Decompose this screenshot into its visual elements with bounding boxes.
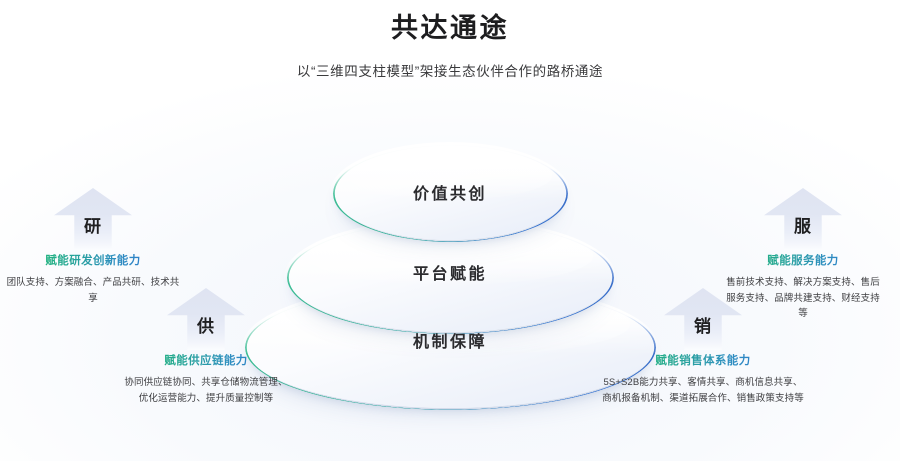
slide-canvas: 共达通途 以“三维四支柱模型”架接生态伙伴合作的路桥通途 机制保障 平台赋能 价…: [0, 0, 900, 461]
pillar-supply[interactable]: 供 赋能供应链能力 协同供应链协同、共享仓储物流管理、优化运营能力、提升质量控制…: [108, 288, 304, 406]
pyramid-layer-bottom-label: 机制保障: [246, 328, 654, 352]
pillar-supply-title: 赋能供应链能力: [108, 353, 304, 370]
pillar-supply-char: 供: [167, 312, 245, 337]
pillar-service-desc: 售前技术支持、解决方案支持、售后服务支持、品牌共建支持、财经支持等: [712, 275, 894, 321]
pillar-sales-title: 赋能销售体系能力: [596, 353, 810, 370]
pillar-sales-desc: 5S+S2B能力共享、客情共享、商机信息共享、商机报备机制、渠道拓展合作、销售政…: [596, 375, 810, 406]
pyramid-layer-top-label: 价值共创: [334, 180, 566, 204]
pillar-service-title: 赋能服务能力: [712, 253, 894, 270]
page-title: 共达通途: [0, 0, 900, 46]
up-arrow-icon: 供: [167, 288, 245, 350]
pillar-research-char: 研: [54, 212, 132, 237]
up-arrow-icon: 研: [54, 188, 132, 250]
up-arrow-icon: 服: [764, 188, 842, 250]
pyramid-layer-middle-label: 平台赋能: [288, 260, 612, 284]
pyramid-layer-top[interactable]: 价值共创: [334, 146, 566, 240]
page-subtitle: 以“三维四支柱模型”架接生态伙伴合作的路桥通途: [0, 46, 900, 82]
pillar-research-title: 赋能研发创新能力: [2, 253, 184, 270]
pillar-supply-desc: 协同供应链协同、共享仓储物流管理、优化运营能力、提升质量控制等: [108, 375, 304, 406]
header: 共达通途 以“三维四支柱模型”架接生态伙伴合作的路桥通途: [0, 0, 900, 83]
pillar-service[interactable]: 服 赋能服务能力 售前技术支持、解决方案支持、售后服务支持、品牌共建支持、财经支…: [712, 188, 894, 321]
pillar-service-char: 服: [764, 212, 842, 237]
